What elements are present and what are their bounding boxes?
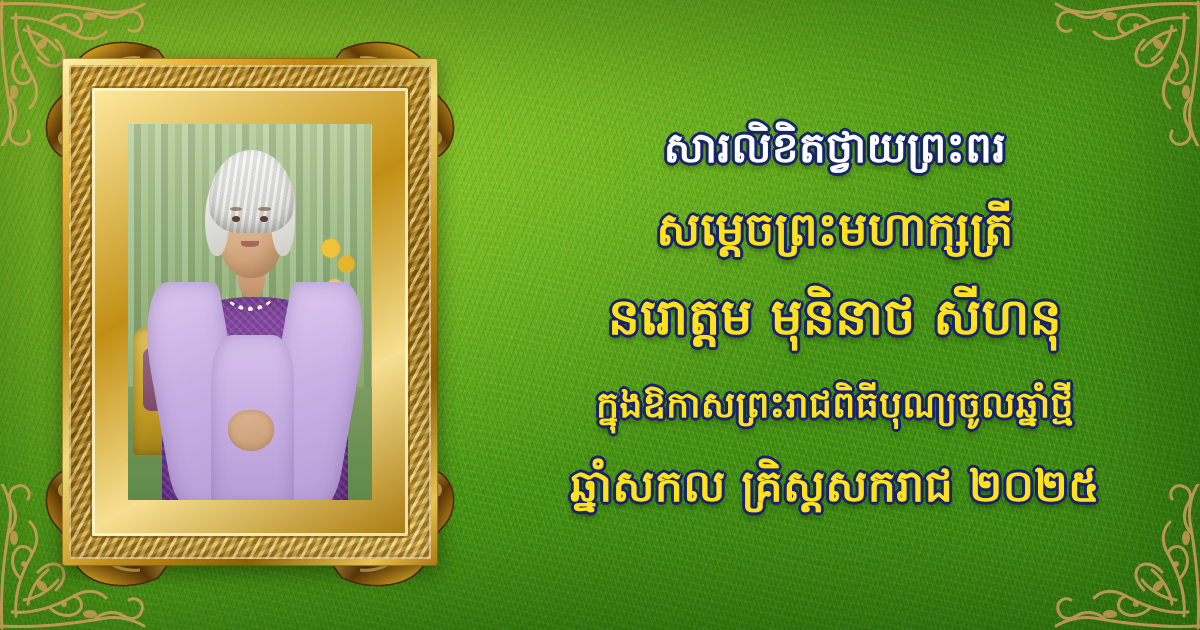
- portrait-frame: [40, 28, 460, 598]
- eye-right: [260, 216, 268, 222]
- queen-mother-portrait-photo: [128, 124, 372, 500]
- greeting-message-block: សារលិខិតថ្វាយព្រះពរ សម្តេចព្រះមហាក្សត្រី…: [470, 0, 1200, 630]
- eye-left: [232, 216, 240, 222]
- white-hair: [209, 150, 294, 233]
- portrait-figure: [128, 124, 372, 500]
- greeting-line-1: សារលិខិតថ្វាយព្រះពរ: [664, 122, 1007, 173]
- greeting-line-5: ឆ្នាំសកល គ្រិស្តសករាជ ២០២៥: [570, 460, 1100, 514]
- greeting-card: សារលិខិតថ្វាយព្រះពរ សម្តេចព្រះមហាក្សត្រី…: [0, 0, 1200, 630]
- greeting-line-2: សម្តេចព្រះមហាក្សត្រី: [656, 201, 1013, 257]
- greeting-line-3: នរោត្តម មុនិនាថ សីហនុ: [608, 287, 1062, 348]
- frame-inner-bevel: [92, 88, 408, 536]
- frame-outer-molding: [62, 58, 438, 566]
- greeting-line-4: ក្នុងឱកាសព្រះរាជពិធីបុណ្យចូលឆ្នាំថ្មី: [596, 384, 1074, 428]
